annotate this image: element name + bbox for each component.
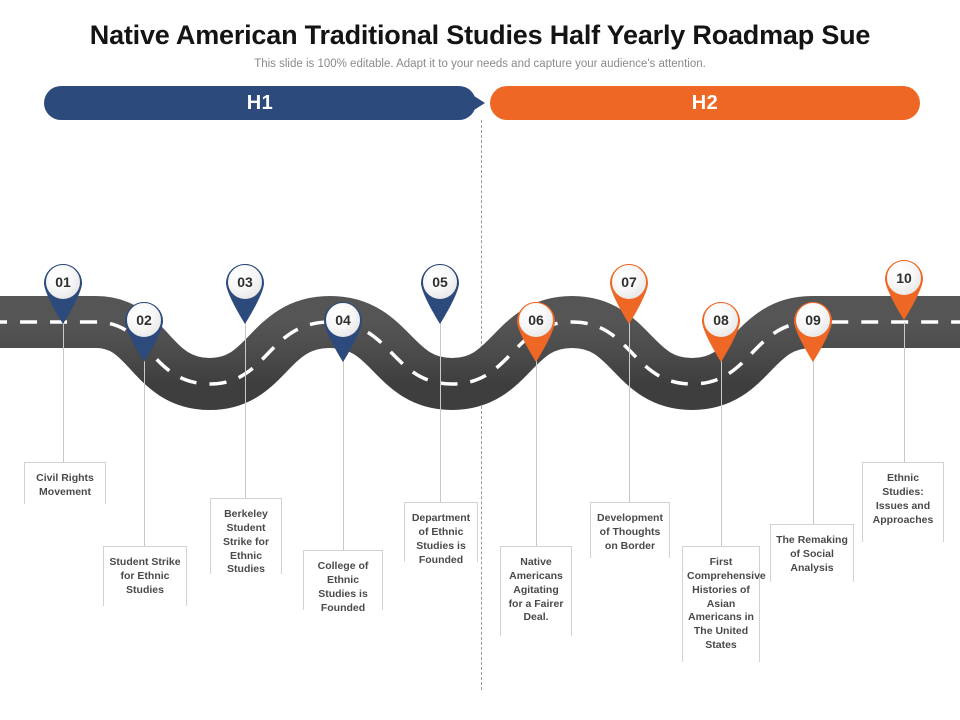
connector-line-03 xyxy=(245,322,246,498)
milestone-number-06: 06 xyxy=(518,302,554,338)
page-subtitle: This slide is 100% editable. Adapt it to… xyxy=(0,58,960,70)
connector-line-08 xyxy=(721,360,722,546)
milestone-number-10: 10 xyxy=(886,260,922,296)
phase-bar-h1-label: H1 xyxy=(247,92,274,115)
connector-line-06 xyxy=(536,360,537,546)
milestone-pin-05[interactable]: 05 xyxy=(418,262,462,324)
connector-line-01 xyxy=(63,322,64,462)
milestone-label-02: Student Strike for Ethnic Studies xyxy=(103,546,187,606)
milestone-number-03: 03 xyxy=(227,264,263,300)
connector-line-07 xyxy=(629,322,630,502)
milestone-label-04: College of Ethnic Studies is Founded xyxy=(303,550,383,610)
milestone-number-05: 05 xyxy=(422,264,458,300)
phase-bar-h2-label: H2 xyxy=(692,92,719,115)
milestone-pin-03[interactable]: 03 xyxy=(223,262,267,324)
milestone-pin-10[interactable]: 10 xyxy=(882,258,926,320)
milestone-pin-09[interactable]: 09 xyxy=(791,300,835,362)
milestone-number-09: 09 xyxy=(795,302,831,338)
milestone-number-01: 01 xyxy=(45,264,81,300)
milestone-number-02: 02 xyxy=(126,302,162,338)
milestone-label-06: Native Americans Agitating for a Fairer … xyxy=(500,546,572,636)
milestone-label-09: The Remaking of Social Analysis xyxy=(770,524,854,582)
connector-line-04 xyxy=(343,360,344,550)
milestone-pin-01[interactable]: 01 xyxy=(41,262,85,324)
milestone-pin-08[interactable]: 08 xyxy=(699,300,743,362)
milestone-label-10: Ethnic Studies: Issues and Approaches xyxy=(862,462,944,542)
milestone-label-01: Civil Rights Movement xyxy=(24,462,106,504)
connector-line-10 xyxy=(904,322,905,462)
connector-line-09 xyxy=(813,360,814,524)
connector-line-02 xyxy=(144,360,145,546)
milestone-label-05: Department of Ethnic Studies is Founded xyxy=(404,502,478,562)
milestone-number-04: 04 xyxy=(325,302,361,338)
milestone-pin-06[interactable]: 06 xyxy=(514,300,558,362)
milestone-number-08: 08 xyxy=(703,302,739,338)
milestone-pin-04[interactable]: 04 xyxy=(321,300,365,362)
page-title: Native American Traditional Studies Half… xyxy=(0,20,960,51)
milestone-pin-07[interactable]: 07 xyxy=(607,262,651,324)
phase-bar-h1[interactable]: H1 xyxy=(44,86,476,120)
phase-bar-h2[interactable]: H2 xyxy=(490,86,920,120)
connector-line-05 xyxy=(440,322,441,502)
phase-arrow-icon xyxy=(474,96,485,110)
milestone-label-08: First Comprehensive Histories of Asian A… xyxy=(682,546,760,662)
milestone-number-07: 07 xyxy=(611,264,647,300)
milestone-pin-02[interactable]: 02 xyxy=(122,300,166,362)
milestone-label-07: Development of Thoughts on Border xyxy=(590,502,670,558)
milestone-label-03: Berkeley Student Strike for Ethnic Studi… xyxy=(210,498,282,574)
